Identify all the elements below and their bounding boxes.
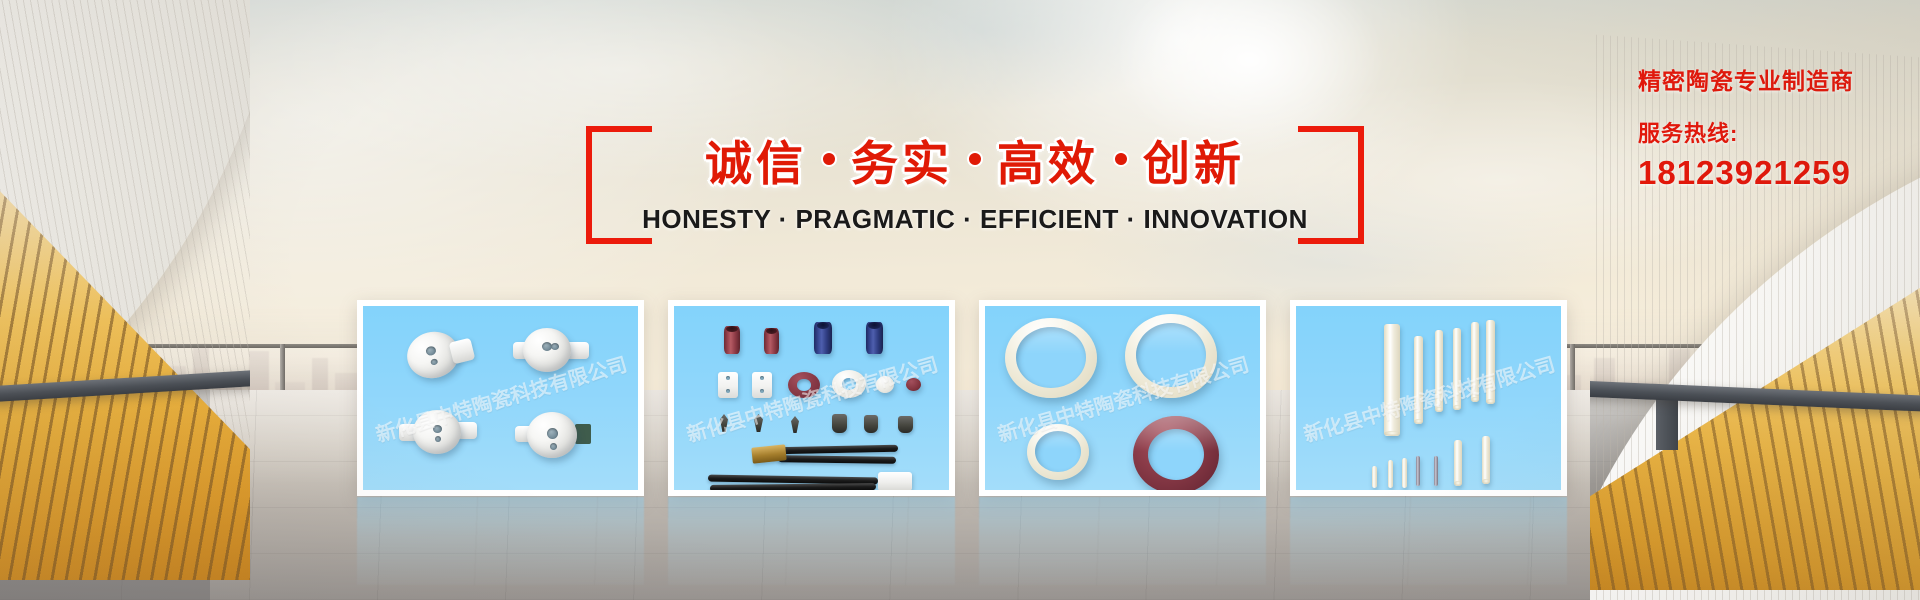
- connector-body-2: [864, 415, 878, 433]
- product-panel-ceramic-rods[interactable]: 新化县中特陶瓷科技有限公司: [1290, 300, 1567, 496]
- slogan-word-1: 诚信: [705, 125, 807, 194]
- slogan-word-3: 高效: [997, 125, 1099, 194]
- connector-clip-1: [720, 414, 728, 432]
- ceramic-ring-large-2: [1125, 314, 1217, 398]
- ceramic-ring-maroon: [1133, 416, 1219, 490]
- slogan-english: HONESTY · PRAGMATIC · EFFICIENT · INNOVA…: [586, 204, 1364, 235]
- slogan-word-2: 务实: [851, 125, 953, 194]
- ceramic-plate-2: [752, 372, 772, 398]
- lamp-holder-4-pins: [575, 424, 591, 444]
- hotline-phone[interactable]: 18123921259: [1638, 154, 1854, 192]
- wire-assembly-2-lower: [710, 483, 876, 490]
- ceramic-tube-maroon-2: [764, 328, 779, 354]
- lamp-holder-3: [413, 410, 461, 454]
- connector-clip-2: [754, 414, 763, 432]
- slogan-block: 诚信 务实 高效 创新 HONESTY · PRAGMATIC · EFFICI…: [586, 126, 1364, 246]
- wire-assembly-1-upper: [778, 445, 898, 455]
- product-panel-ceramic-rings[interactable]: 新化县中特陶瓷科技有限公司: [979, 300, 1266, 496]
- ceramic-cap-maroon: [906, 378, 921, 391]
- ceramic-tube-navy-2: [866, 322, 883, 354]
- ceramic-tube-navy-1: [814, 322, 832, 354]
- ceramic-rod-short-6: [1454, 440, 1462, 486]
- ceramic-rod-6: [1486, 320, 1495, 404]
- contact-block: 精密陶瓷专业制造商 服务热线: 18123921259: [1638, 62, 1854, 192]
- ceramic-ring-white: [832, 370, 866, 398]
- reflection-2: [668, 497, 955, 585]
- reflection-1: [357, 497, 644, 585]
- slogan-dot-3: [1115, 153, 1127, 165]
- product-panel-lamp-holders[interactable]: 新化县中特陶瓷科技有限公司: [357, 300, 644, 496]
- slogan-chinese: 诚信 务实 高效 创新: [586, 124, 1364, 194]
- product-panel-tubes-connectors[interactable]: 新化县中特陶瓷科技有限公司: [668, 300, 955, 496]
- ceramic-plate-1: [718, 372, 738, 398]
- ceramic-rod-short-1: [1372, 466, 1377, 488]
- company-tagline: 精密陶瓷专业制造商: [1638, 62, 1854, 96]
- slogan-word-4: 创新: [1143, 125, 1245, 194]
- connector-body-3: [898, 416, 913, 433]
- panel-image-ceramic-rings: 新化县中特陶瓷科技有限公司: [985, 306, 1260, 490]
- ceramic-rod-short-2: [1388, 460, 1393, 488]
- panel-reflections: [357, 497, 1567, 585]
- wire-housing-white: [878, 472, 912, 490]
- ceramic-rod-short-7: [1482, 436, 1490, 484]
- ceramic-rod-4: [1453, 328, 1461, 410]
- ceramic-rod-3: [1435, 330, 1443, 412]
- ceramic-rod-5: [1471, 322, 1479, 402]
- canopy-structure-left: [0, 0, 250, 600]
- connector-clip-3: [791, 416, 799, 433]
- ceramic-ring-small: [1027, 424, 1089, 480]
- ceramic-rod-short-3: [1402, 458, 1407, 488]
- ceramic-cap-white: [876, 376, 894, 393]
- reflection-3: [979, 497, 1266, 585]
- ceramic-rod-thick: [1384, 324, 1400, 436]
- slogan-dot-2: [969, 153, 981, 165]
- panel-image-ceramic-rods: 新化县中特陶瓷科技有限公司: [1296, 306, 1561, 490]
- product-panel-group: 新化县中特陶瓷科技有限公司: [357, 300, 1567, 496]
- ceramic-ring-maroon-small: [788, 372, 820, 398]
- panel-watermark-4: 新化县中特陶瓷科技有限公司: [1300, 348, 1558, 448]
- connector-body-1: [832, 414, 847, 433]
- lamp-holder-4: [527, 412, 577, 458]
- ceramic-rod-short-4: [1416, 456, 1420, 486]
- hotline-label: 服务热线:: [1638, 116, 1854, 148]
- slogan-dot-1: [823, 153, 835, 165]
- lamp-holder-1-tab: [449, 338, 476, 365]
- ceramic-ring-large-1: [1005, 318, 1097, 398]
- ceramic-rod-2: [1414, 336, 1423, 424]
- panel-image-lamp-holders: 新化县中特陶瓷科技有限公司: [363, 306, 638, 490]
- ceramic-rod-short-5: [1434, 456, 1438, 486]
- wire-assembly-1-lower: [778, 455, 896, 464]
- ceramic-tube-maroon-1: [724, 326, 740, 354]
- reflection-4: [1290, 497, 1567, 585]
- panel-image-tubes-connectors: 新化县中特陶瓷科技有限公司: [674, 306, 949, 490]
- banner-root: 诚信 务实 高效 创新 HONESTY · PRAGMATIC · EFFICI…: [0, 0, 1920, 600]
- lamp-holder-2: [523, 328, 571, 372]
